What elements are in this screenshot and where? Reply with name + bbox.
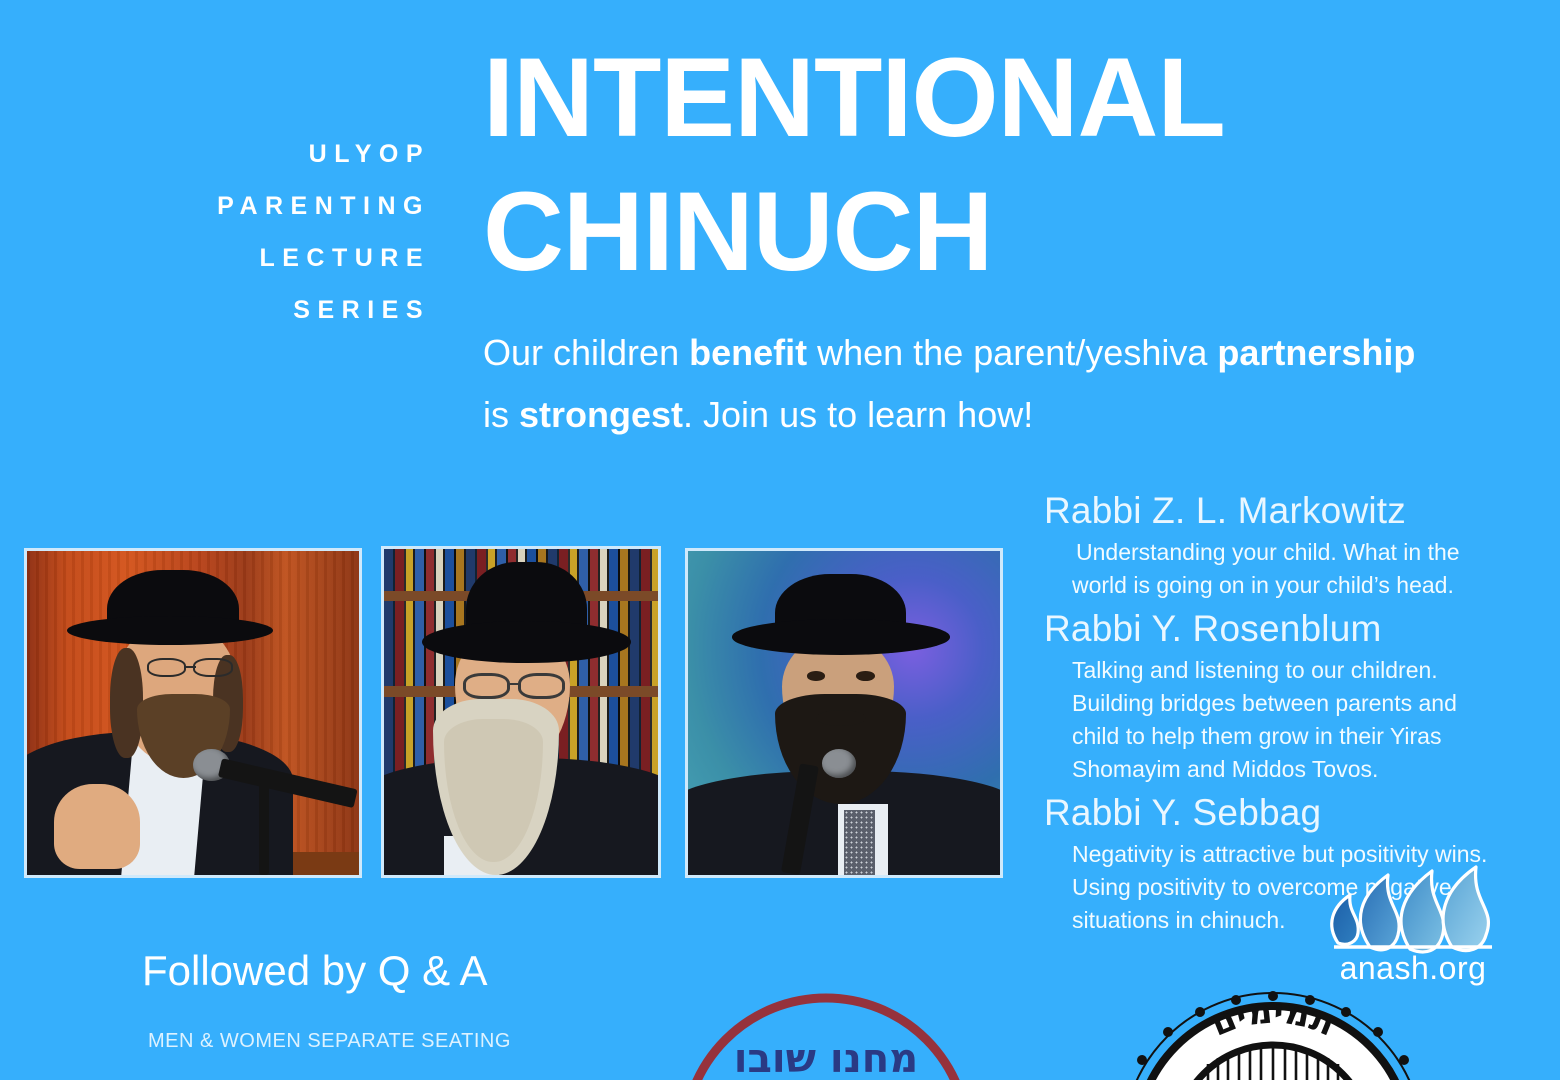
subtitle-bold-partnership: partnership [1217, 332, 1415, 373]
speaker-name: Rabbi Y. Sebbag [1044, 789, 1504, 836]
subtitle-bold-benefit: benefit [689, 332, 807, 373]
speakers-list: Rabbi Z. L. Markowitz Understanding your… [1044, 487, 1504, 940]
separate-seating-note: MEN & WOMEN SEPARATE SEATING [148, 1030, 511, 1053]
subtitle-text: Our children benefit when the parent/yes… [483, 322, 1433, 446]
title-line-2: CHINUCH [483, 176, 1383, 288]
subtitle-part-4: . Join us to learn how! [683, 394, 1033, 435]
title-line-1: INTENTIONAL [483, 42, 1383, 154]
series-line-1: ULYOP [140, 128, 430, 180]
speaker-description: Understanding your child. What in the wo… [1044, 536, 1504, 602]
speaker-name: Rabbi Z. L. Markowitz [1044, 487, 1504, 534]
subtitle-part-3: is [483, 394, 519, 435]
watermark-label: anash.org [1318, 950, 1508, 987]
subtitle-bold-strongest: strongest [519, 394, 683, 435]
speaker-entry: Rabbi Y. Sebbag Negativity is attractive… [1044, 789, 1504, 937]
shuvu-hebrew-text: מחנו שובו [734, 1036, 918, 1080]
series-line-3: LECTURE [140, 232, 430, 284]
rabbi-markowitz-photo [24, 548, 362, 878]
series-line-4: SERIES [140, 284, 430, 336]
speaker-description: Negativity is attractive but positivity … [1044, 838, 1504, 937]
speaker-entry: Rabbi Z. L. Markowitz Understanding your… [1044, 487, 1504, 602]
subtitle-part-1: Our children [483, 332, 689, 373]
lecture-series-label: ULYOP PARENTING LECTURE SERIES [140, 128, 430, 336]
speaker-name: Rabbi Y. Rosenblum [1044, 605, 1504, 652]
followed-by-qa-note: Followed by Q & A [142, 948, 488, 994]
speaker-entry: Rabbi Y. Rosenblum Talking and listening… [1044, 605, 1504, 786]
page-title: INTENTIONAL CHINUCH [483, 42, 1383, 288]
rabbi-rosenblum-photo [381, 546, 661, 878]
shuvu-seal-logo: מחנו שובו [676, 990, 976, 1080]
speaker-description: Talking and listening to our children. B… [1044, 654, 1504, 786]
rabbi-sebbag-photo [685, 548, 1003, 878]
series-line-2: PARENTING [140, 180, 430, 232]
subtitle-part-2: when the parent/yeshiva [807, 332, 1217, 373]
tomchei-temimim-seal-logo: תמימים [1118, 988, 1428, 1080]
